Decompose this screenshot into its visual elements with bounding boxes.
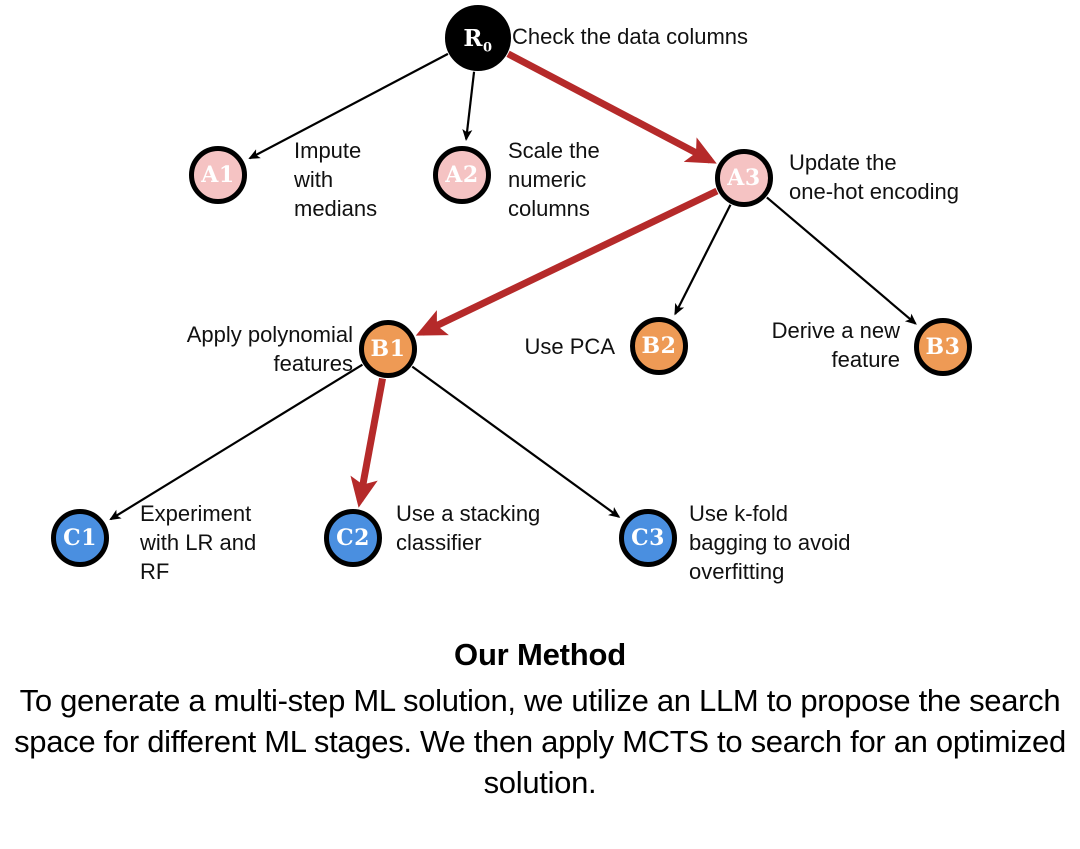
tree-node-a1[interactable]: A1 — [189, 146, 247, 204]
node-label-c3: C3 — [631, 525, 665, 551]
tree-node-c2[interactable]: C2 — [324, 509, 382, 567]
tree-edge-b1-c1 — [111, 365, 363, 519]
tree-node-c1[interactable]: C1 — [51, 509, 109, 567]
node-label-a2: A2 — [445, 162, 478, 188]
tree-edge-b1-c2 — [360, 378, 383, 500]
tree-node-r0[interactable]: R0 — [445, 5, 511, 71]
caption-title: Our Method — [0, 636, 1080, 675]
tree-edge-a3-b3 — [767, 197, 916, 323]
node-label-b3: B3 — [926, 334, 961, 360]
node-caption-a1: Impute with medians — [294, 136, 444, 223]
caption-body: To generate a multi-step ML solution, we… — [0, 680, 1080, 804]
tree-edge-b1-c3 — [412, 367, 619, 517]
node-label-b2: B2 — [642, 333, 677, 359]
tree-node-b1[interactable]: B1 — [359, 320, 417, 378]
method-caption-block: Our Method To generate a multi-step ML s… — [0, 636, 1080, 803]
node-caption-b1: Apply polynomial features — [108, 320, 353, 378]
mcts-tree-diagram: R0 A1 A2 A3 B1 B2 B3 C1 C2 C3 Check the … — [0, 0, 1080, 620]
tree-node-b2[interactable]: B2 — [630, 317, 688, 375]
node-caption-b2: Use PCA — [440, 332, 615, 361]
node-caption-b3: Derive a new feature — [700, 316, 900, 374]
node-caption-a3: Update the one-hot encoding — [789, 148, 1059, 206]
tree-edge-r0-a2 — [466, 72, 474, 139]
node-label-r0-subscript: 0 — [483, 40, 493, 55]
node-caption-c1: Experiment with LR and RF — [140, 499, 325, 586]
node-caption-c2: Use a stacking classifier — [396, 499, 596, 557]
node-label-c2: C2 — [336, 525, 370, 551]
node-caption-c3: Use k-fold bagging to avoid overfitting — [689, 499, 904, 586]
node-label-c1: C1 — [63, 525, 97, 551]
node-caption-a2: Scale the numeric columns — [508, 136, 668, 223]
node-caption-r0: Check the data columns — [512, 22, 852, 51]
tree-node-c3[interactable]: C3 — [619, 509, 677, 567]
tree-node-b3[interactable]: B3 — [914, 318, 972, 376]
tree-edge-a3-b2 — [675, 205, 730, 314]
tree-node-a3[interactable]: A3 — [715, 149, 773, 207]
node-label-a1: A1 — [201, 162, 234, 188]
node-label-r0: R0 — [463, 25, 492, 52]
node-label-a3: A3 — [727, 165, 760, 191]
node-label-b1: B1 — [371, 336, 406, 362]
